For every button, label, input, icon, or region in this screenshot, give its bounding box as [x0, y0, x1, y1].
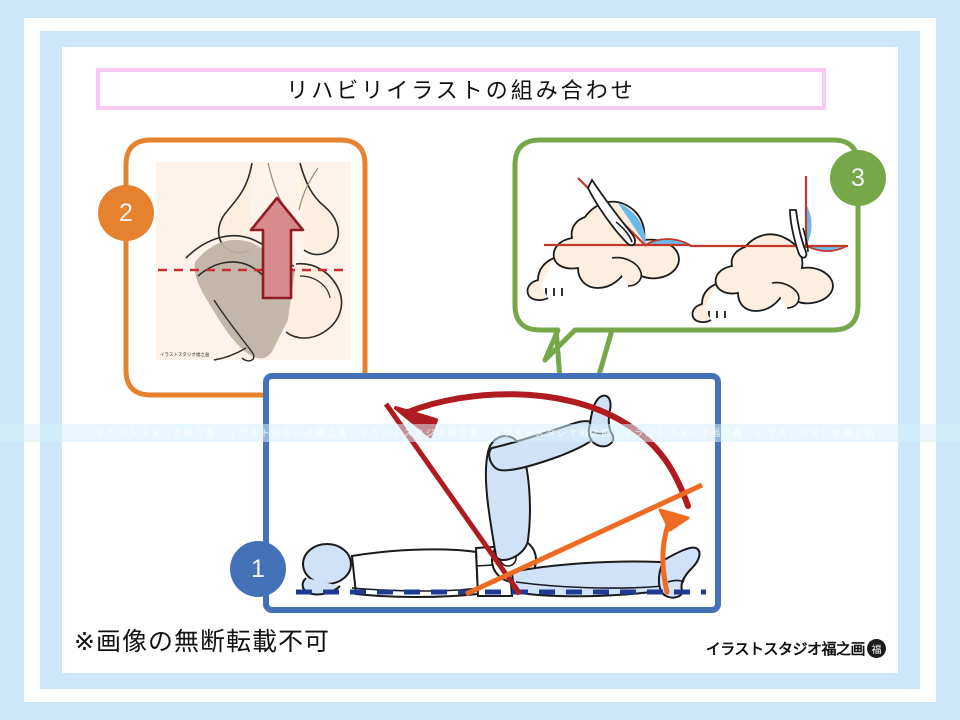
illustration-scapula: イラストスタジオ福之画	[156, 162, 351, 361]
screenshot-root: リハビリイラストの組み合わせ	[0, 0, 960, 720]
studio-logo-badge-icon: 福	[867, 639, 886, 658]
badge-panel-1[interactable]: 1	[230, 541, 286, 597]
studio-logo-text: イラストスタジオ福之画	[706, 638, 865, 659]
badge-bubble-3[interactable]: 3	[830, 150, 886, 206]
copyright-note: ※画像の無断転載不可	[74, 622, 330, 658]
panel-main[interactable]	[266, 376, 718, 610]
inner-watermark: イラストスタジオ福之画	[160, 351, 210, 358]
studio-logo: イラストスタジオ福之画 福	[706, 638, 886, 659]
badge-bubble-2[interactable]: 2	[98, 185, 154, 241]
illustration-stage: イラストスタジオ福之画	[0, 0, 960, 720]
